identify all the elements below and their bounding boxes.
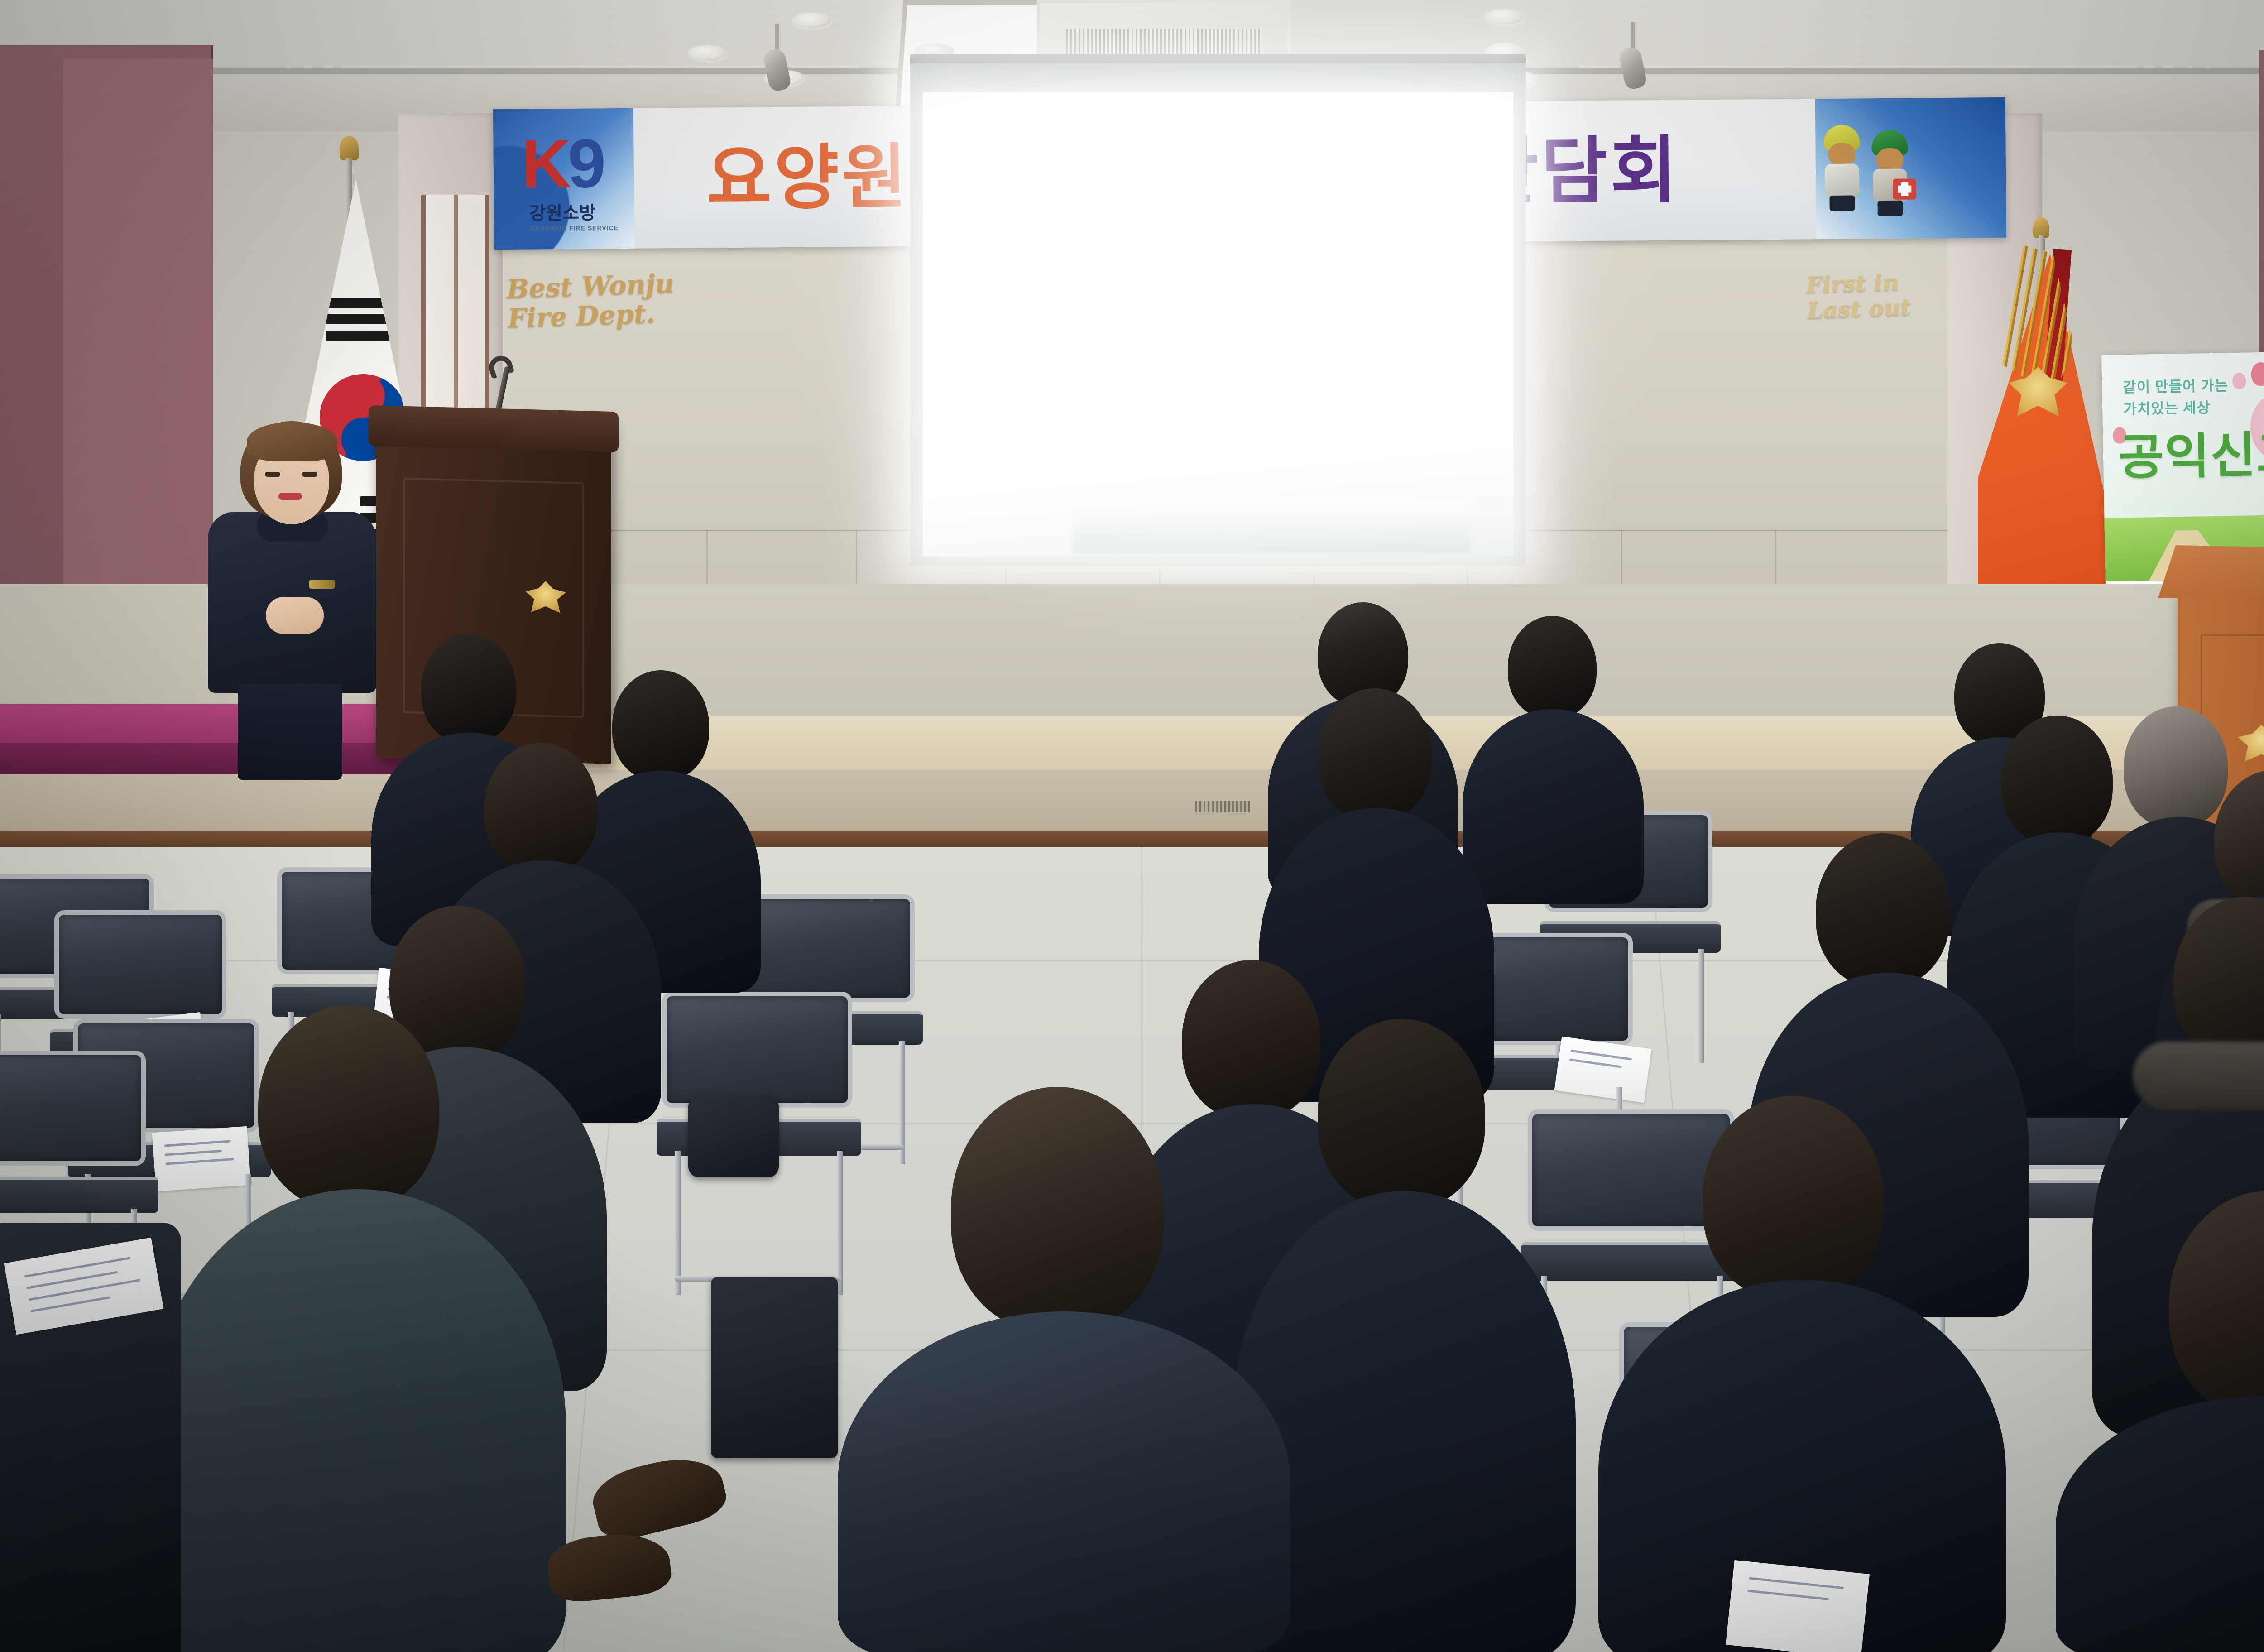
track-spotlight [765, 24, 789, 91]
k9-logo-k: K [521, 125, 568, 203]
downlight-icon [1485, 9, 1524, 24]
presenter [197, 421, 387, 779]
k9-logo-subtitle: 강원소방 GANGWON FIRE SERVICE [529, 198, 619, 232]
audience-member [2056, 1191, 2264, 1652]
standing-banner-subtitle: 같이 만들어 가는 가치있는 세상 [2123, 375, 2229, 420]
audience-member [838, 1087, 1290, 1652]
firefighter-mascot-icon [1820, 125, 1864, 211]
handout-paper[interactable] [1726, 1560, 1870, 1652]
balloon-icon [2232, 373, 2246, 389]
projection-screen [910, 63, 1526, 566]
banner-text-left: 요양원 [706, 120, 910, 224]
track-spotlight [1621, 22, 1645, 90]
projection-ghost-content [1072, 499, 1471, 553]
wall-motto-left: Best Wonju Fire Dept. [506, 269, 676, 334]
k9-logo-9: 9 [567, 125, 603, 202]
bag[interactable] [711, 1277, 838, 1458]
bag[interactable] [688, 1096, 779, 1177]
microphone-head-icon [486, 353, 514, 379]
stage-floor-vent [1195, 801, 1250, 812]
standing-banner-title: 공익신고 [2118, 415, 2264, 489]
firefighter-mascot-icon [1868, 130, 1912, 216]
projection-screen-surface [923, 92, 1513, 556]
presenter-hands [266, 597, 324, 634]
downlight-icon [688, 45, 727, 61]
presenter-trousers [238, 684, 342, 780]
wall-motto-right: First in Last out [1806, 269, 1911, 323]
fur-hood-trim [2133, 1042, 2264, 1109]
uniform-badge-icon [309, 580, 335, 589]
k9-logo-subtitle-ko: 강원소방 [529, 203, 596, 223]
k9-logo-subtitle-en: GANGWON FIRE SERVICE [529, 224, 619, 232]
auditorium-scene: Best Wonju Fire Dept. First in Last out … [0, 0, 2264, 1652]
audience-member [149, 1005, 566, 1652]
k9-logo: K9 [521, 132, 608, 200]
flag-finial-icon [340, 136, 359, 160]
downlight-icon [792, 13, 831, 28]
firefighter-mascot-icons [1820, 116, 1957, 221]
